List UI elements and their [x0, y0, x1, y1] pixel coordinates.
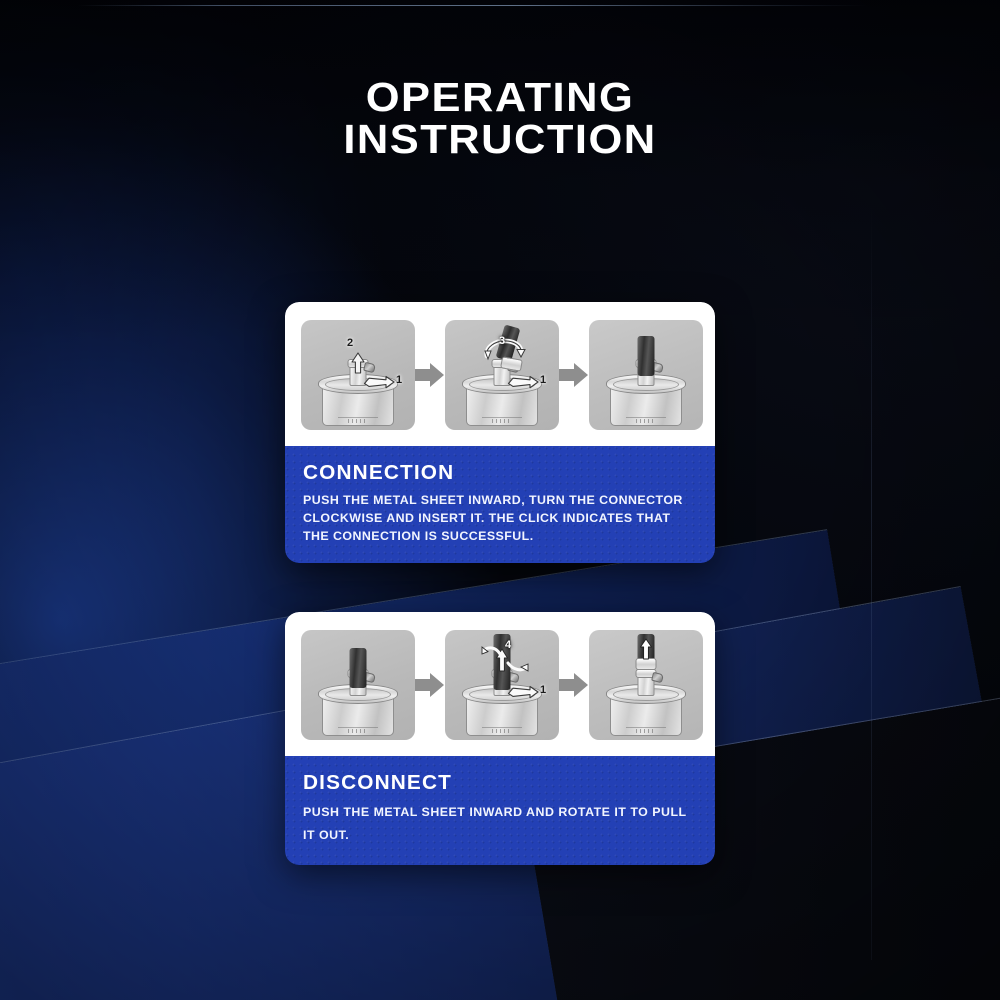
- card-connection-step-2-illustration: 3 1: [445, 320, 559, 430]
- step-marker-4: 4: [505, 640, 511, 651]
- step-marker-1: 1: [540, 685, 546, 696]
- press-arrow-icon: [363, 374, 395, 390]
- jar-liquid-line: [626, 417, 666, 418]
- step-marker-1: 1: [396, 375, 402, 386]
- step-marker-2: 2: [347, 338, 353, 349]
- card-connection-info: CONNECTION PUSH THE METAL SHEET INWARD, …: [285, 446, 715, 563]
- rotate-left-arrow-icon: [481, 644, 501, 660]
- card-connection-step-3-illustration: [589, 320, 703, 430]
- press-arrow-icon: [507, 684, 539, 700]
- connector-hose: [350, 648, 367, 688]
- jar-scale-ticks: [492, 729, 509, 733]
- instruction-poster: OPERATING INSTRUCTION: [0, 0, 1000, 1000]
- page-title-line-1: OPERATING: [0, 76, 1000, 118]
- jar-scale-ticks: [348, 729, 365, 733]
- step-arrow-icon: [415, 361, 445, 389]
- jar-scale-ticks: [636, 729, 653, 733]
- jar-scale-ticks: [636, 419, 653, 423]
- jar-liquid-line: [626, 727, 666, 728]
- connector-hose: [638, 336, 655, 376]
- step-arrow-icon: [559, 671, 589, 699]
- pull-out-arrow-icon: [639, 638, 653, 660]
- card-connection-body: PUSH THE METAL SHEET INWARD, TURN THE CO…: [303, 491, 697, 545]
- card-disconnect-heading: DISCONNECT: [303, 772, 713, 794]
- page-title-line-2: INSTRUCTION: [0, 118, 1000, 160]
- card-disconnect-step-2-illustration: 4 1: [445, 630, 559, 740]
- step-arrow-icon: [415, 671, 445, 699]
- card-connection-heading: CONNECTION: [303, 462, 713, 484]
- card-connection-steps: 2 1: [285, 302, 715, 446]
- step-arrow-icon: [559, 361, 589, 389]
- card-connection-step-1-illustration: 2 1: [301, 320, 415, 430]
- step-marker-3: 3: [499, 336, 505, 347]
- rotate-right-arrow-icon: [507, 658, 529, 676]
- jar-liquid-line: [338, 727, 378, 728]
- card-connection: 2 1: [285, 302, 715, 563]
- jar-liquid-line: [482, 417, 522, 418]
- press-arrow-icon: [507, 374, 539, 390]
- jar-scale-ticks: [348, 419, 365, 423]
- up-arrow-icon: [351, 352, 365, 374]
- step-marker-1: 1: [540, 375, 546, 386]
- card-disconnect-info: DISCONNECT PUSH THE METAL SHEET INWARD A…: [285, 756, 715, 865]
- card-disconnect-body: PUSH THE METAL SHEET INWARD AND ROTATE I…: [303, 801, 697, 847]
- card-disconnect: 4 1: [285, 612, 715, 865]
- jar-liquid-line: [338, 417, 378, 418]
- page-title: OPERATING INSTRUCTION: [0, 76, 1000, 160]
- card-disconnect-step-1-illustration: [301, 630, 415, 740]
- card-disconnect-steps: 4 1: [285, 612, 715, 756]
- card-disconnect-step-3-illustration: [589, 630, 703, 740]
- jar-liquid-line: [482, 727, 522, 728]
- jar-scale-ticks: [492, 419, 509, 423]
